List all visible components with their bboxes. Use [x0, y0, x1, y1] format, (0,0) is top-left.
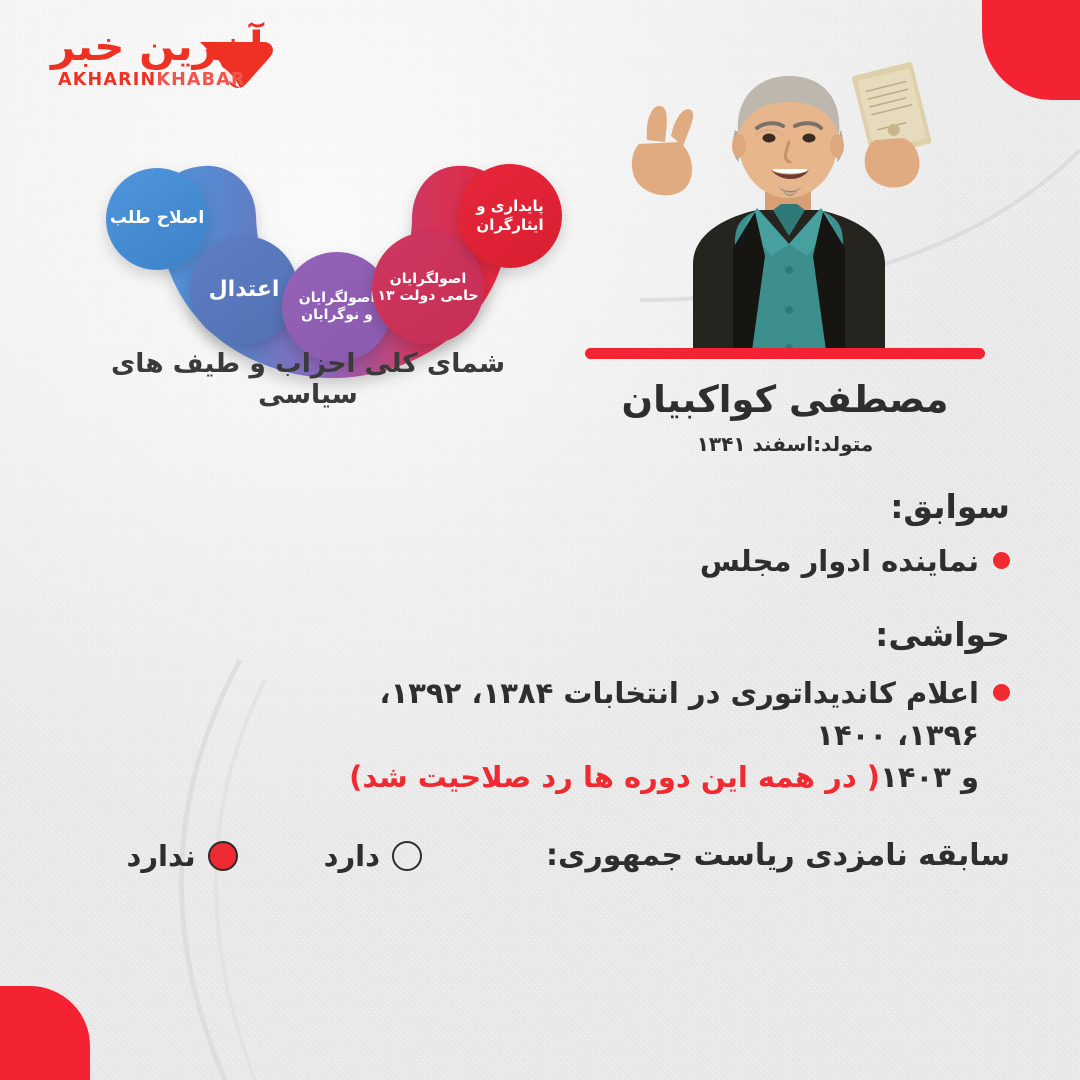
infographic-canvas: آخرین خبر AKHARINKHABAR [0, 0, 1080, 1080]
corner-decoration-bottom-left [0, 986, 90, 1080]
notes-heading: حواشی: [875, 615, 1010, 654]
spectrum-bubble-paydari-isargaran[interactable]: پایداری و ایثارگران [458, 164, 562, 268]
background-item-text: نماینده ادوار مجلس [700, 540, 979, 582]
logo-word-main: AKHARIN [58, 70, 156, 90]
background-item: نماینده ادوار مجلس [700, 540, 1010, 582]
line-1: اصولگرایان [299, 290, 375, 306]
spectrum-bubble-moderate[interactable]: اعتدال [190, 236, 298, 344]
candidate-photo-illustration [575, 58, 995, 358]
line-2: حامی دولت ۱۳ [378, 288, 479, 304]
radio-selected-icon[interactable] [208, 841, 238, 871]
logo-wordmark: AKHARINKHABAR [58, 70, 246, 90]
notes-item-text: اعلام کاندیداتوری در انتخابات ۱۳۸۴، ۱۳۹۲… [310, 672, 979, 798]
name-underline [585, 348, 985, 359]
candidate-birth: متولد:اسفند ۱۳۴۱ [585, 432, 985, 456]
presidency-option-no[interactable]: ندارد [126, 839, 237, 873]
candidate-name: مصطفی کواکبیان [585, 378, 985, 421]
spectrum-bubble-label: اصلاح طلب [110, 208, 204, 229]
notes-item: اعلام کاندیداتوری در انتخابات ۱۳۸۴، ۱۳۹۲… [310, 672, 1010, 798]
background-heading: سوابق: [890, 487, 1010, 526]
notes-line-2-red: ( در همه این دوره ها رد صلاحیت شد) [349, 760, 880, 794]
line-2: ایثارگران [476, 216, 543, 234]
notes-line-2-black: و ۱۴۰۳ [880, 760, 979, 794]
corner-decoration-top-right [982, 0, 1080, 100]
spectrum-caption: شمای کلی احزاب و طیف های سیاسی [78, 348, 538, 410]
presidency-option-yes-label: دارد [324, 839, 380, 873]
presidency-candidacy-row: سابقه نامزدی ریاست جمهوری: دارد ندارد [70, 838, 1010, 873]
spectrum-bubble-reformist[interactable]: اصلاح طلب [106, 168, 208, 270]
line-2: و نوگرایان [301, 307, 373, 323]
spectrum-bubble-label: اصولگرایان و نوگرایان [299, 290, 375, 325]
line-1: پایداری و [476, 197, 544, 215]
presidency-option-yes[interactable]: دارد [324, 839, 422, 873]
logo-script-fa: آخرین خبر [51, 24, 264, 70]
presidency-label: سابقه نامزدی ریاست جمهوری: [546, 838, 1010, 873]
spectrum-bubble-label: پایداری و ایثارگران [476, 197, 544, 235]
radio-unselected-icon[interactable] [392, 841, 422, 871]
candidate-photo [575, 58, 995, 358]
notes-line-1: اعلام کاندیداتوری در انتخابات ۱۳۸۴، ۱۳۹۲… [380, 676, 979, 752]
bullet-dot-icon [993, 552, 1010, 569]
spectrum-bubble-label: اعتدال [209, 276, 280, 304]
site-logo[interactable]: آخرین خبر AKHARINKHABAR [50, 26, 280, 112]
bullet-dot-icon [993, 684, 1010, 701]
spectrum-bubble-label: اصولگرایان حامی دولت ۱۳ [378, 271, 479, 306]
spectrum-bubble-gov13-principlists[interactable]: اصولگرایان حامی دولت ۱۳ [372, 232, 484, 344]
logo-word-sub: KHABAR [156, 70, 245, 90]
presidency-option-no-label: ندارد [126, 839, 195, 873]
line-1: اصولگرایان [390, 271, 466, 287]
